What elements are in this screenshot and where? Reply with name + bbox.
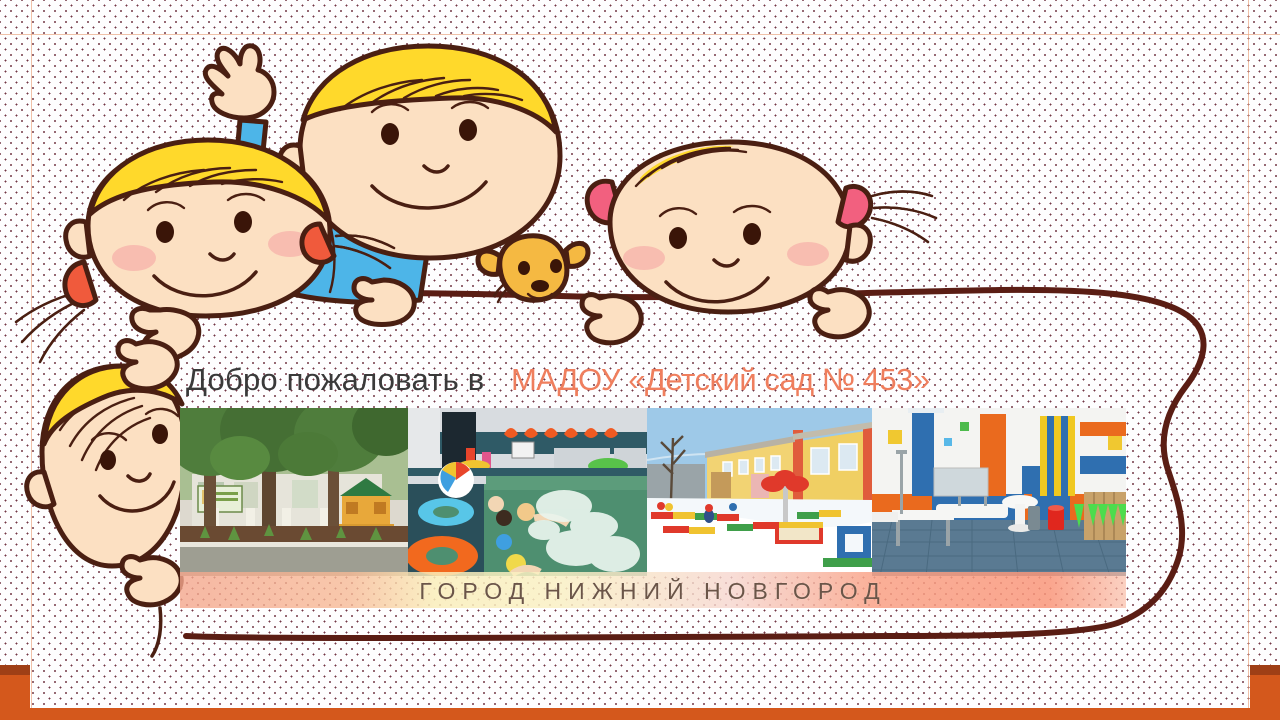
photo-washroom-interior	[872, 408, 1126, 576]
slide-caption: ГОРОД НИЖНИЙ НОВГОРОД	[180, 575, 1126, 607]
photo-kindergarten-summer-facade	[180, 408, 408, 576]
photo-kindergarten-winter-yard	[647, 408, 872, 576]
title-plain-part: Добро пожаловать в	[186, 362, 484, 397]
photo-indoor-swimming-pool	[408, 408, 647, 576]
character-boy-bottom-left	[27, 341, 186, 656]
photo-strip	[180, 408, 1126, 576]
slide-title: Добро пожаловать в МАДОУ «Детский сад № …	[186, 360, 930, 400]
character-girl-right	[582, 142, 936, 343]
title-accent-part: МАДОУ «Детский сад № 453»	[511, 362, 930, 397]
slide-root: .ol{stroke:#4a1f12;stroke-width:5;stroke…	[0, 0, 1280, 720]
